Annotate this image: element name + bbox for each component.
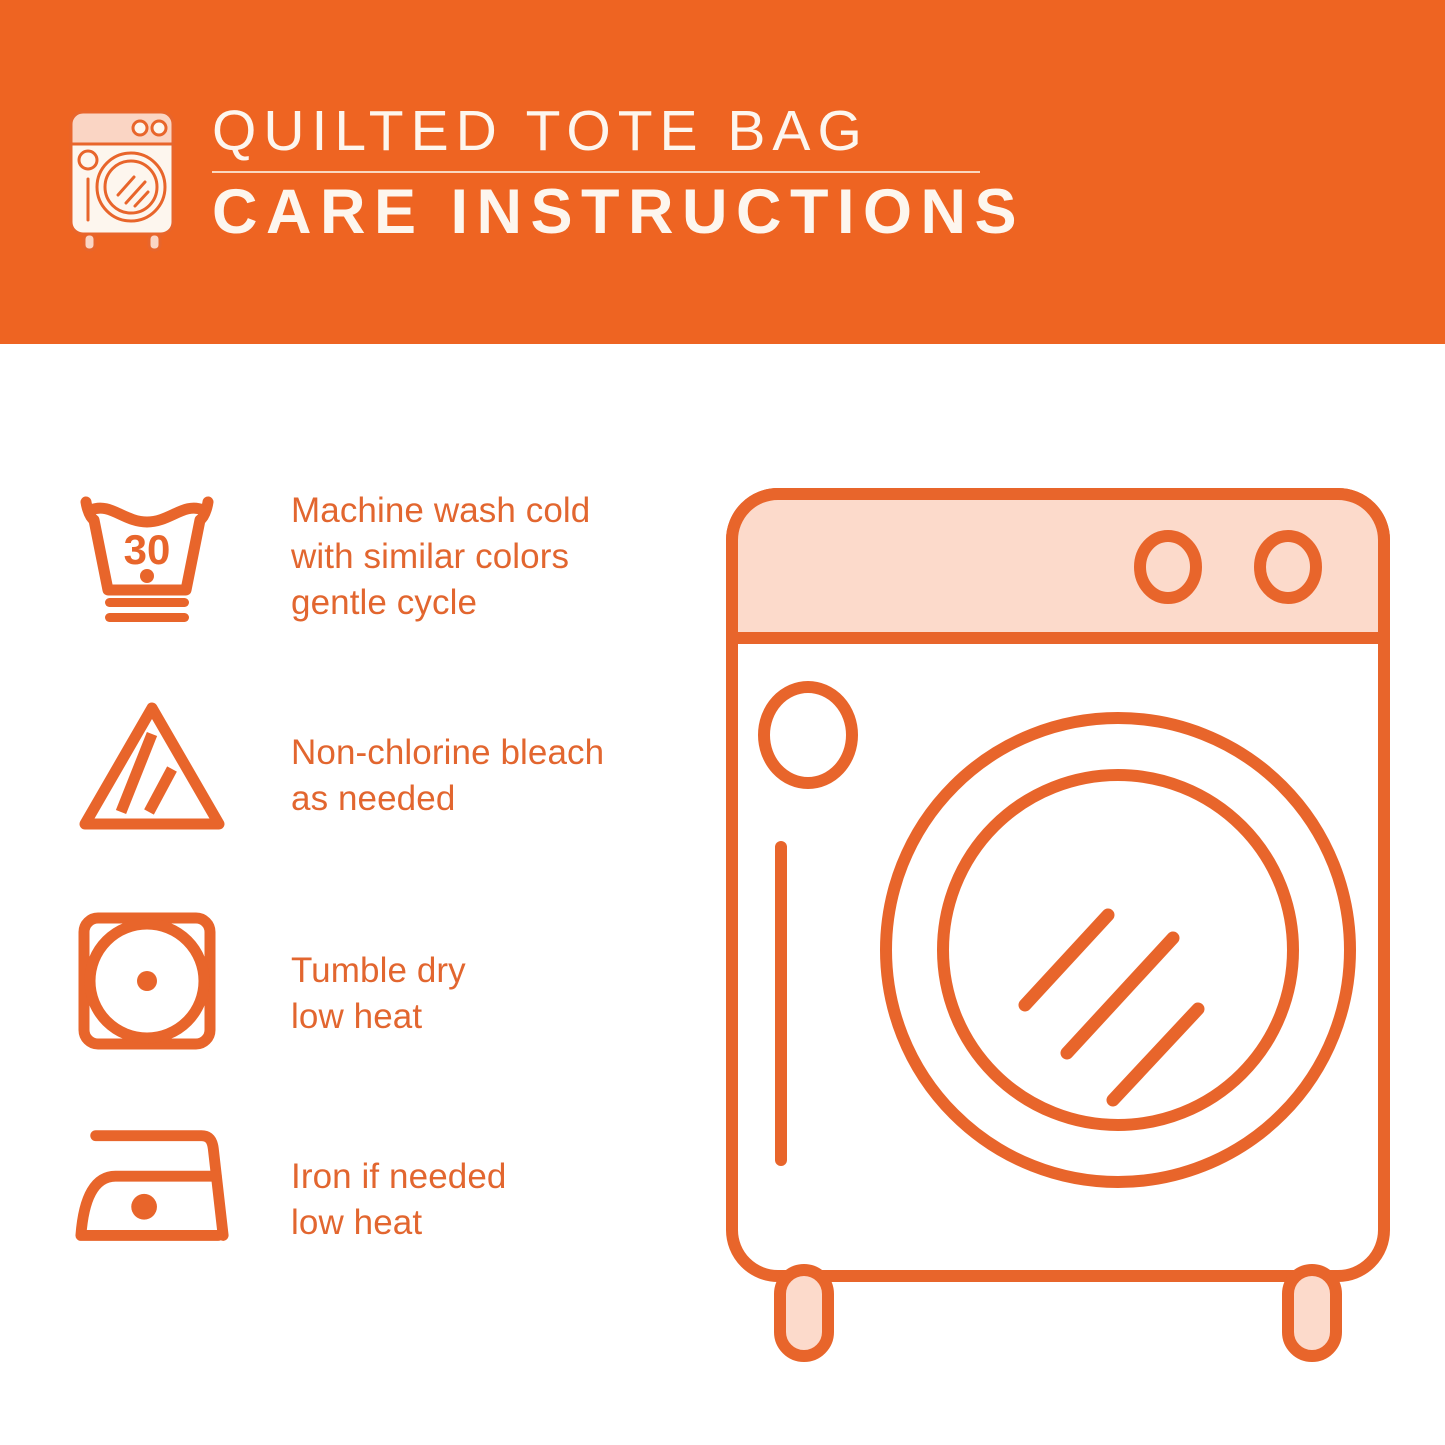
washing-machine-icon [62,103,182,253]
non-chlorine-bleach-triangle-icon [60,694,235,844]
instruction-label-dry: Tumble dry low heat [235,906,466,1040]
page-subtitle: CARE INSTRUCTIONS [212,177,1002,248]
list-item: Tumble dry low heat [60,906,690,1118]
title-divider [212,171,980,173]
instruction-label-bleach: Non-chlorine bleach as needed [235,694,604,822]
washing-machine-illustration [718,480,1398,1380]
page-title: QUILTED TOTE BAG [212,100,1002,164]
header-text-block: QUILTED TOTE BAG CARE INSTRUCTIONS [212,100,1002,247]
list-item: Non-chlorine bleach as needed [60,694,690,906]
list-item: Iron if needed low heat [60,1118,690,1318]
care-instruction-list: 30 Machine wash cold with similar colors… [60,480,690,1318]
instruction-label-wash: Machine wash cold with similar colors ge… [235,480,590,627]
list-item: 30 Machine wash cold with similar colors… [60,480,690,694]
iron-low-heat-icon [60,1118,235,1268]
instruction-label-iron: Iron if needed low heat [235,1118,506,1246]
wash-temp-label: 30 [124,526,171,573]
header-banner: QUILTED TOTE BAG CARE INSTRUCTIONS [0,0,1445,344]
tumble-dry-low-icon [60,906,235,1056]
wash-tub-30-gentle-icon: 30 [60,480,235,630]
care-instructions-page: QUILTED TOTE BAG CARE INSTRUCTIONS 30 [0,0,1445,1445]
